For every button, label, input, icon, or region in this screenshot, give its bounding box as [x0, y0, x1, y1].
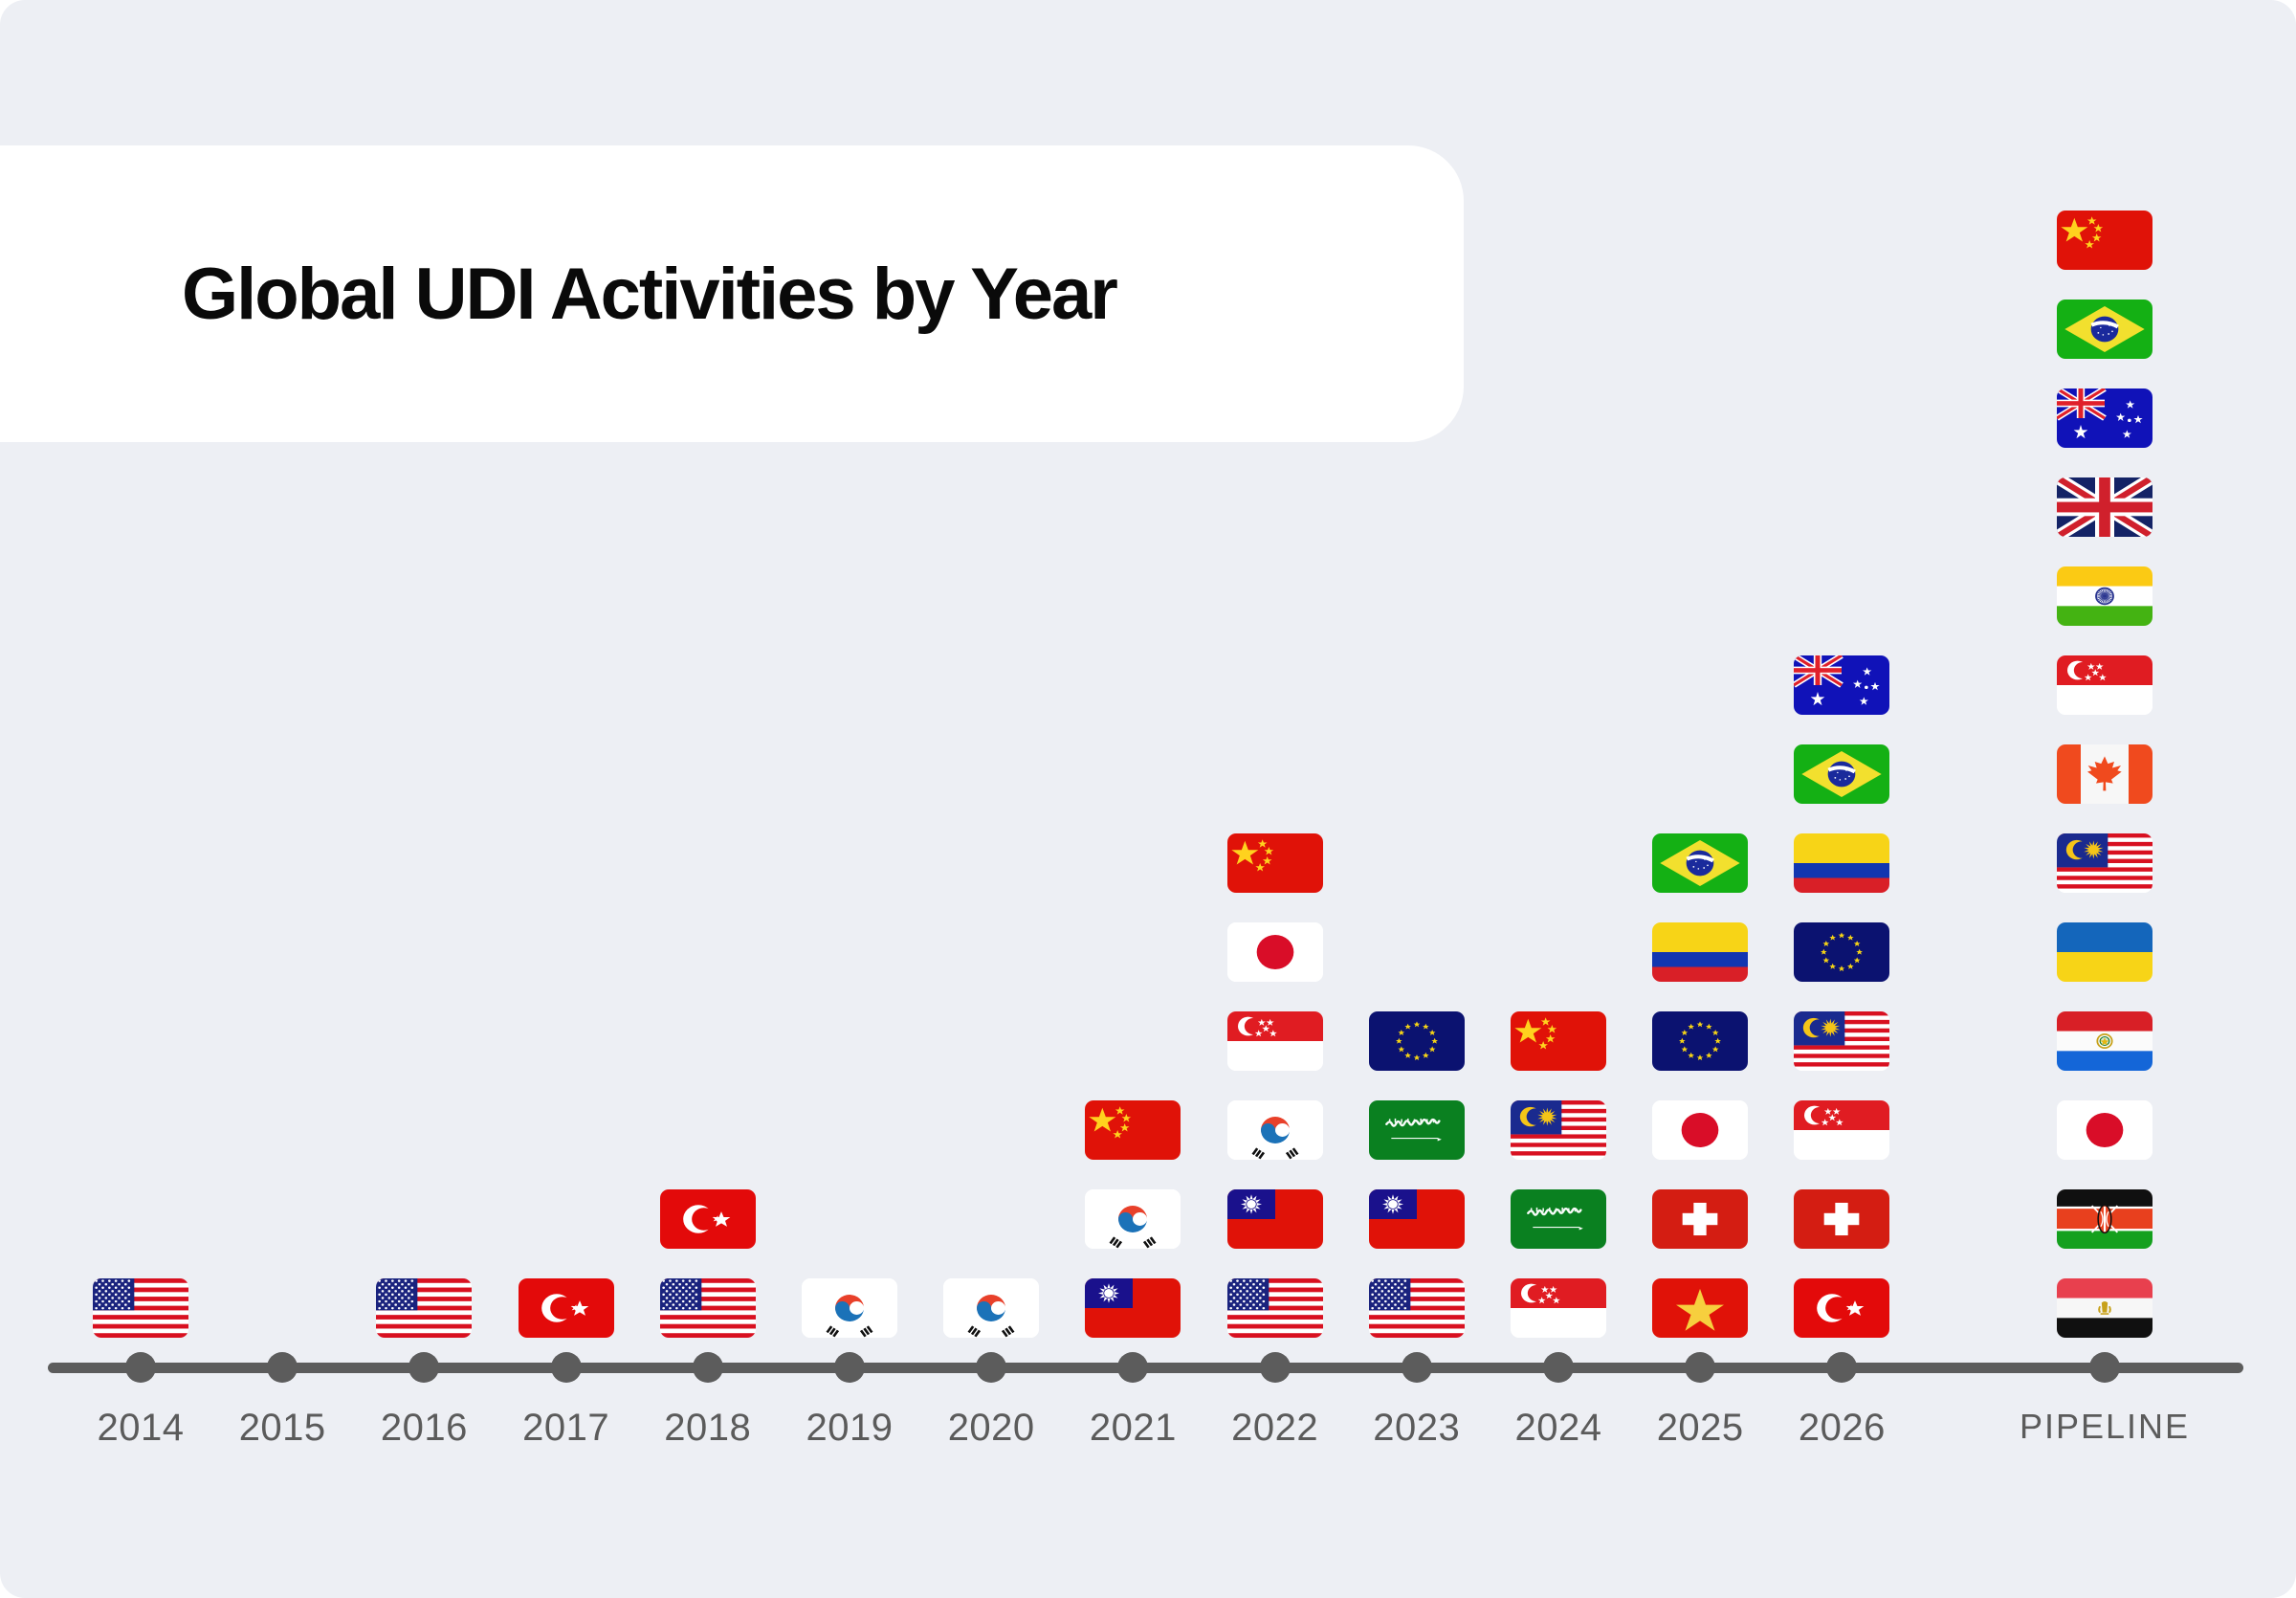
flag-stack-2016 — [347, 1278, 500, 1338]
axis-dot-2025 — [1685, 1352, 1715, 1383]
flag-japan-icon — [1652, 1100, 1748, 1160]
flag-taiwan-icon — [1369, 1189, 1465, 1249]
axis-dot-2022 — [1260, 1352, 1291, 1383]
axis-label-pipeline: PIPELINE — [1980, 1407, 2229, 1447]
flag-singapore-icon — [1227, 1011, 1323, 1071]
flag-china-icon — [1227, 833, 1323, 893]
flag-stack-2021 — [1056, 1100, 1209, 1338]
flag-malaysia-icon — [1794, 1011, 1889, 1071]
flag-turkey-icon — [660, 1189, 756, 1249]
flag-stack-2017 — [490, 1278, 643, 1338]
flag-singapore-icon — [1794, 1100, 1889, 1160]
flag-stack-2025 — [1623, 833, 1777, 1338]
flag-south-korea-icon — [943, 1278, 1039, 1338]
axis-dot-2019 — [834, 1352, 865, 1383]
flag-united-states-icon — [1227, 1278, 1323, 1338]
flag-south-korea-icon — [802, 1278, 897, 1338]
flag-brazil-icon — [2057, 300, 2152, 359]
flag-stack-2019 — [773, 1278, 926, 1338]
flag-singapore-icon — [1511, 1278, 1606, 1338]
flag-turkey-icon — [519, 1278, 614, 1338]
flag-south-korea-icon — [1085, 1189, 1181, 1249]
flag-china-icon — [2057, 211, 2152, 270]
axis-label-2026: 2026 — [1717, 1407, 1966, 1450]
flag-stack-2020 — [915, 1278, 1068, 1338]
page-title: Global UDI Activities by Year — [182, 253, 1116, 336]
flag-china-icon — [1511, 1011, 1606, 1071]
flag-united-states-icon — [660, 1278, 756, 1338]
flag-taiwan-icon — [1085, 1278, 1181, 1338]
flag-brazil-icon — [1794, 744, 1889, 804]
flag-switzerland-icon — [1794, 1189, 1889, 1249]
flag-saudi-arabia-icon — [1511, 1189, 1606, 1249]
axis-dot-pipeline — [2089, 1352, 2120, 1383]
flag-stack-2026 — [1765, 655, 1918, 1338]
flag-paraguay-icon — [2057, 1011, 2152, 1071]
axis-dot-2026 — [1826, 1352, 1857, 1383]
flag-colombia-icon — [1652, 922, 1748, 982]
flag-australia-icon — [2057, 388, 2152, 448]
flag-stack-2023 — [1340, 1011, 1493, 1338]
axis-dot-2018 — [693, 1352, 723, 1383]
flag-india-icon — [2057, 566, 2152, 626]
flag-european-union-icon — [1794, 922, 1889, 982]
flag-ukraine-icon — [2057, 922, 2152, 982]
flag-saudi-arabia-icon — [1369, 1100, 1465, 1160]
flag-colombia-icon — [1794, 833, 1889, 893]
flag-stack-2022 — [1199, 833, 1352, 1338]
flag-united-states-icon — [93, 1278, 188, 1338]
infographic-root: Global UDI Activities by Year 2014201520… — [0, 0, 2296, 1598]
flag-singapore-icon — [2057, 655, 2152, 715]
flag-united-states-icon — [376, 1278, 472, 1338]
flag-egypt-icon — [2057, 1278, 2152, 1338]
flag-stack-pipeline — [2028, 211, 2181, 1338]
flag-stack-2018 — [631, 1189, 784, 1338]
flag-switzerland-icon — [1652, 1189, 1748, 1249]
flag-european-union-icon — [1652, 1011, 1748, 1071]
title-card: Global UDI Activities by Year — [0, 145, 1464, 442]
axis-dot-2014 — [125, 1352, 156, 1383]
axis-dot-2016 — [408, 1352, 439, 1383]
flag-south-korea-icon — [1227, 1100, 1323, 1160]
flag-kenya-icon — [2057, 1189, 2152, 1249]
axis-dot-2015 — [267, 1352, 298, 1383]
axis-dot-2020 — [976, 1352, 1006, 1383]
flag-australia-icon — [1794, 655, 1889, 715]
axis-dot-2021 — [1117, 1352, 1148, 1383]
flag-malaysia-icon — [2057, 833, 2152, 893]
flag-united-kingdom-icon — [2057, 477, 2152, 537]
flag-japan-icon — [2057, 1100, 2152, 1160]
flag-turkey-icon — [1794, 1278, 1889, 1338]
flag-japan-icon — [1227, 922, 1323, 982]
flag-brazil-icon — [1652, 833, 1748, 893]
axis-dot-2017 — [551, 1352, 582, 1383]
flag-vietnam-icon — [1652, 1278, 1748, 1338]
flag-european-union-icon — [1369, 1011, 1465, 1071]
flag-china-icon — [1085, 1100, 1181, 1160]
flag-stack-2014 — [64, 1278, 217, 1338]
flag-taiwan-icon — [1227, 1189, 1323, 1249]
flag-united-states-icon — [1369, 1278, 1465, 1338]
axis-dot-2024 — [1543, 1352, 1574, 1383]
flag-stack-2024 — [1482, 1011, 1635, 1338]
axis-dot-2023 — [1402, 1352, 1432, 1383]
flag-malaysia-icon — [1511, 1100, 1606, 1160]
flag-canada-icon — [2057, 744, 2152, 804]
